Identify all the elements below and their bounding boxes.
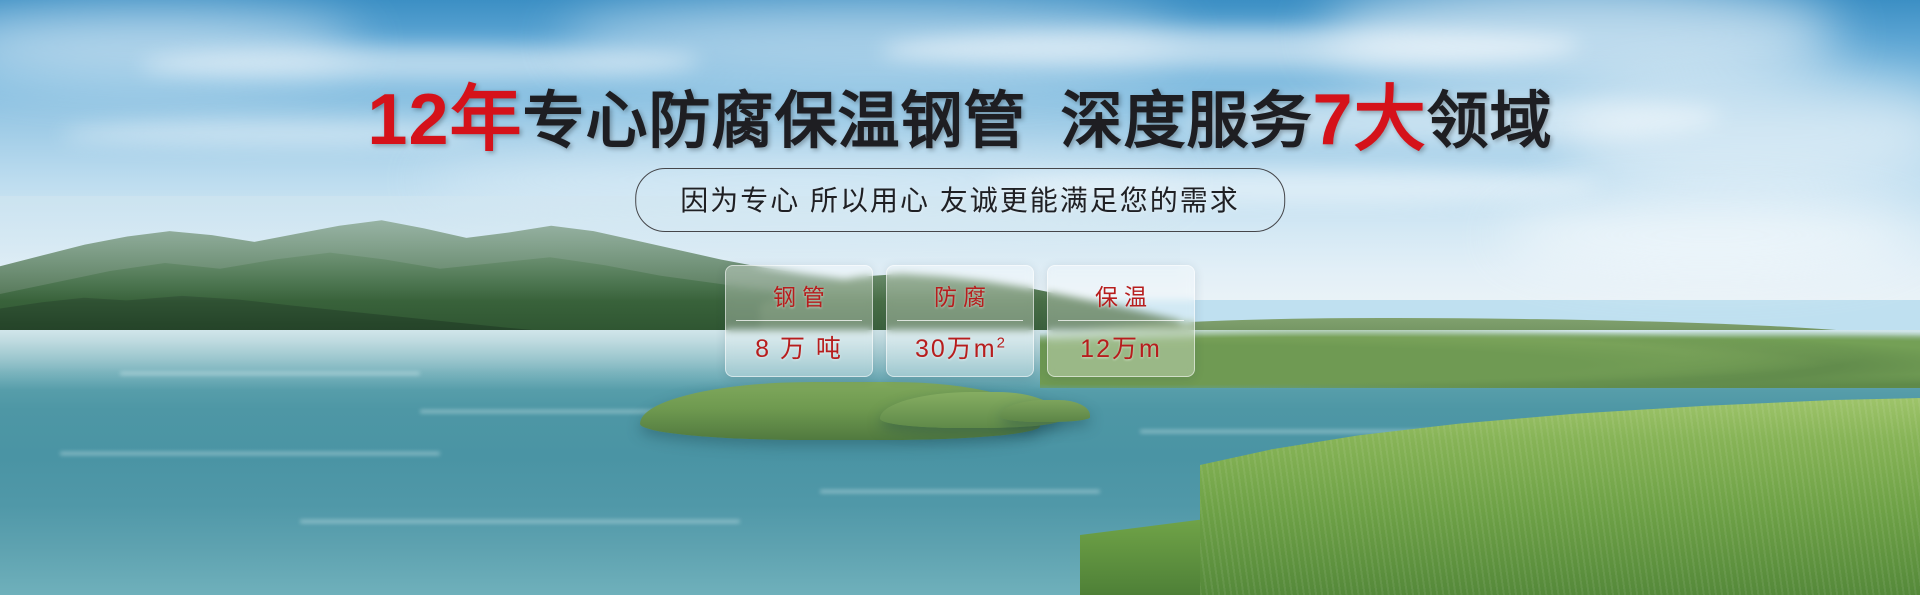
headline-segment-years: 12年: [367, 80, 522, 160]
banner-headline: 12年专心防腐保温钢管深度服务7大领域: [0, 84, 1920, 156]
water-streak: [300, 520, 740, 523]
stat-card-insulation[interactable]: 保温 12万m: [1047, 265, 1195, 377]
stat-value-text: 30万m: [915, 335, 997, 363]
headline-segment-service: 深度服务: [1061, 87, 1313, 156]
stat-card-value: 12万m: [1080, 329, 1162, 365]
stat-card-value: 30万m2: [915, 329, 1005, 365]
cloud: [1500, 200, 1920, 270]
stat-card-group: 钢管 8 万 吨 防腐 30万m2 保温 12万m: [725, 265, 1195, 377]
stat-value-text: 12万m: [1080, 335, 1162, 363]
stat-value-text: 8 万 吨: [755, 335, 843, 363]
stat-card-divider: [736, 320, 862, 321]
banner-subtitle-pill: 因为专心 所以用心 友诚更能满足您的需求: [635, 168, 1285, 232]
headline-segment-main: 专心防腐保温钢管: [523, 87, 1027, 156]
headline-segment-fields: 领域: [1427, 87, 1553, 156]
water-streak: [420, 410, 660, 413]
water-streak: [820, 490, 1100, 493]
stat-card-value: 8 万 吨: [755, 329, 843, 365]
stat-card-title: 保温: [1089, 278, 1153, 312]
water-streak: [60, 452, 440, 455]
stat-value-superscript: 2: [997, 334, 1005, 351]
stat-card-anticorrosion[interactable]: 防腐 30万m2: [886, 265, 1034, 377]
stat-card-title: 防腐: [928, 278, 992, 312]
stat-card-steel-pipe[interactable]: 钢管 8 万 吨: [725, 265, 873, 377]
water-streak: [120, 372, 420, 375]
stat-card-title: 钢管: [767, 278, 831, 312]
promo-banner: 12年专心防腐保温钢管深度服务7大领域 因为专心 所以用心 友诚更能满足您的需求…: [0, 0, 1920, 595]
stat-card-divider: [897, 320, 1023, 321]
stat-card-divider: [1058, 320, 1184, 321]
headline-segment-count: 7大: [1313, 80, 1427, 160]
